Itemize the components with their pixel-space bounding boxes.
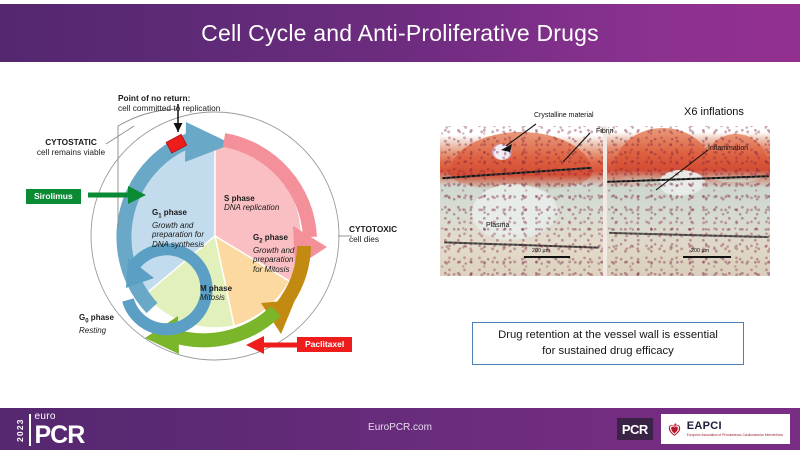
cytostatic-label: CYTOSTATIC cell remains viable [16, 138, 126, 158]
page-title: Cell Cycle and Anti-Proliferative Drugs [201, 20, 599, 47]
slide-footer: 2023 euro PCR EuroPCR.com PCR EAPCI Euro… [0, 408, 800, 450]
phase-label-g1: G1 phase Growth and preparation for DNA … [152, 208, 220, 249]
eapci-name: EAPCI [687, 421, 783, 432]
key-message-text: Drug retention at the vessel wall is ess… [498, 328, 718, 359]
point-of-no-return-label: Point of no return: cell committed to re… [118, 94, 220, 114]
crystalline-leader [506, 124, 536, 146]
g2-desc-l2: preparation [253, 255, 293, 264]
slide-root: Cell Cycle and Anti-Proliferative Drugs [0, 0, 800, 450]
footer-badges: PCR EAPCI European Association of Percut… [617, 414, 790, 444]
g1-desc-l2: preparation for [152, 230, 204, 239]
s-desc: DNA replication [224, 203, 279, 212]
g1-desc-l1: Growth and [152, 221, 193, 230]
g1-desc-l3: DNA synthesis [152, 240, 204, 249]
label-fibrin: Fibrin [596, 128, 614, 135]
histology-title: X6 inflations [684, 106, 744, 118]
eapci-text-block: EAPCI European Association of Percutaneo… [687, 421, 783, 437]
phase-label-g0: G0 phase Resting [79, 313, 114, 335]
inflammation-leader [656, 150, 708, 190]
cell-cycle-diagram: Point of no return: cell committed to re… [0, 86, 410, 386]
cytotoxic-title: CYTOTOXIC [349, 224, 397, 234]
ponr-subtitle: cell committed to replication [118, 103, 220, 113]
paclitaxel-arrow-head [246, 336, 264, 354]
key-message-box: Drug retention at the vessel wall is ess… [472, 322, 744, 365]
heart-icon [666, 421, 683, 438]
g2-phase-word: phase [263, 233, 288, 242]
m-phase-word: phase [207, 284, 232, 293]
slide-header: Cell Cycle and Anti-Proliferative Drugs [0, 4, 800, 62]
g2-desc-l1: Growth and [253, 246, 294, 255]
g1-phase-word: phase [162, 208, 187, 217]
m-desc: Mitosis [200, 293, 225, 302]
label-inflammation: Inflammation [708, 145, 748, 152]
cytostatic-subtitle: cell remains viable [37, 147, 105, 157]
cytostatic-title: CYTOSTATIC [45, 137, 97, 147]
label-crystalline-material: Crystalline material [534, 112, 594, 119]
drug-chip-paclitaxel: Paclitaxel [297, 337, 352, 352]
eapci-subtitle: European Association of Percutaneous Car… [687, 434, 783, 437]
cytotoxic-label: CYTOTOXIC cell dies [349, 225, 397, 245]
g2-desc-l3: for Mitosis [253, 265, 289, 274]
fibrin-leader [563, 133, 590, 162]
phase-label-s: S phase DNA replication [224, 194, 279, 213]
key-message-line2: for sustained drug efficacy [542, 345, 674, 357]
badge-pcr[interactable]: PCR [617, 418, 653, 440]
m-name: M [200, 284, 207, 293]
g0-desc: Resting [79, 326, 106, 335]
phase-label-g2: G2 phase Growth and preparation for Mito… [253, 233, 309, 274]
badge-eapci[interactable]: EAPCI European Association of Percutaneo… [661, 414, 790, 444]
ponr-title: Point of no return: [118, 93, 190, 103]
s-phase-word: phase [229, 194, 254, 203]
g0-phase-word: phase [89, 313, 114, 322]
phase-label-m: M phase Mitosis [200, 284, 232, 303]
key-message-line1: Drug retention at the vessel wall is ess… [498, 329, 718, 341]
drug-chip-sirolimus: Sirolimus [26, 189, 81, 204]
cytotoxic-subtitle: cell dies [349, 234, 379, 244]
